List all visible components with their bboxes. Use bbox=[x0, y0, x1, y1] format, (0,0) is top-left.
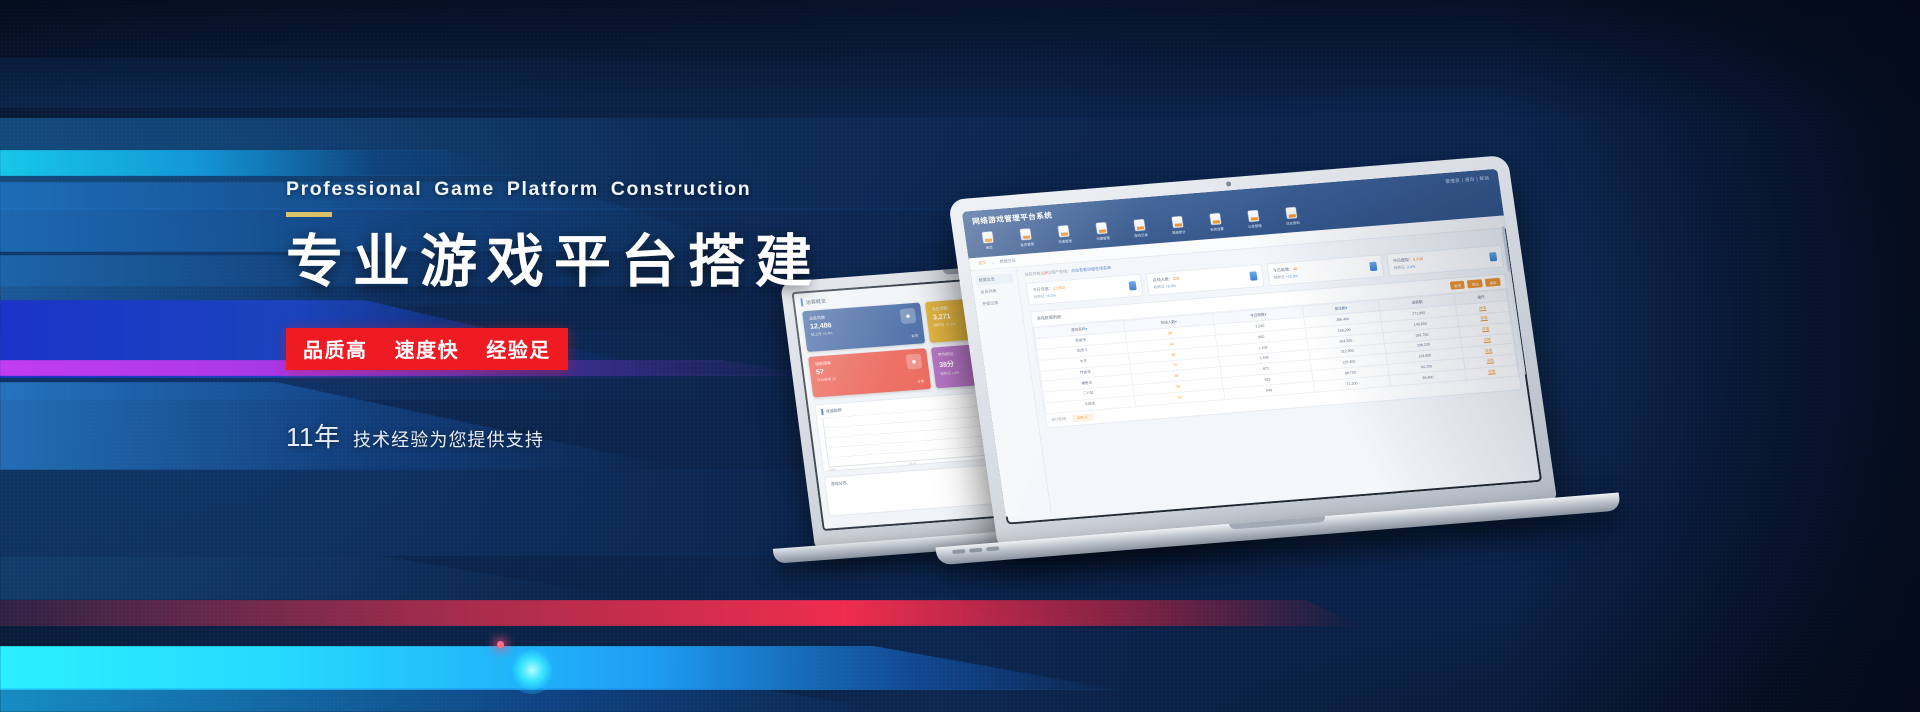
badge-part-3: 经验足 bbox=[486, 340, 551, 362]
eyebrow-text: Professional Game Platform Construction bbox=[286, 178, 1046, 201]
faint-streak bbox=[0, 556, 640, 600]
headline-block: Professional Game Platform Construction … bbox=[286, 178, 1046, 454]
light-sheet bbox=[0, 58, 900, 108]
trend-icon bbox=[1369, 262, 1377, 271]
toolbar-label: 系统设置 bbox=[1210, 226, 1224, 232]
gold-rule bbox=[286, 212, 332, 217]
toolbar-item-reports[interactable]: 报表统计 bbox=[1166, 216, 1191, 236]
top-vignette bbox=[0, 0, 1920, 120]
chart-panel-header: 游戏分布 bbox=[830, 469, 998, 488]
support-text: 技术经验为您提供支持 bbox=[353, 430, 544, 450]
webcam-icon bbox=[1226, 181, 1232, 186]
toolbar-label: 代理管理 bbox=[1096, 235, 1110, 241]
x-tick: 01-01 bbox=[829, 468, 836, 471]
trend-icon bbox=[1489, 252, 1497, 261]
app-body: 数据总览 会员列表 充值记录 当前共有328位用户在线，点击查看详细在线名单 bbox=[970, 228, 1541, 517]
stat-tile[interactable]: 今日提现：9,430 较昨日 -2.4% bbox=[1386, 245, 1504, 277]
stat-tile-value: 12,860 bbox=[1052, 285, 1065, 291]
badge-part-1: 品质高 bbox=[303, 340, 368, 362]
stat-tile-title: 在线人数：328 bbox=[1152, 276, 1180, 284]
megaphone-icon bbox=[1248, 210, 1260, 222]
cyan-streak-bottom-2 bbox=[0, 688, 900, 712]
toolbar-label: 充值管理 bbox=[1058, 238, 1072, 244]
toolbar-label: 公告管理 bbox=[1248, 223, 1262, 229]
toolbar-item-notices[interactable]: 公告管理 bbox=[1242, 210, 1267, 230]
toolbar-item-recharge[interactable]: 充值管理 bbox=[1052, 225, 1077, 245]
support-line: 11年 技术经验为您提供支持 bbox=[286, 417, 1046, 454]
main-content: 当前共有328位用户在线，点击查看详细在线名单 今日充值：12,860 较昨日 … bbox=[1016, 228, 1541, 513]
stat-tile-sub: 较昨日 +12.0% bbox=[1274, 274, 1299, 281]
chart-panel-small: 游戏分布 bbox=[824, 463, 1008, 516]
records-icon bbox=[1134, 219, 1146, 231]
query-button[interactable]: 查询 bbox=[1449, 281, 1465, 290]
toolbar-label: 报表统计 bbox=[1172, 229, 1186, 235]
toolbar-item-records[interactable]: 游戏记录 bbox=[1128, 219, 1153, 239]
hint-link[interactable]: 点击查看详细在线名单 bbox=[1071, 265, 1112, 273]
trend-icon bbox=[1129, 281, 1137, 290]
front-laptop-screen: 网络游戏管理平台系统 管理员 | 退出 | 帮助 首页 会员管理 bbox=[962, 169, 1542, 525]
toolbar-item-agents[interactable]: 代理管理 bbox=[1090, 222, 1115, 242]
cyan-streak-top bbox=[0, 150, 520, 176]
stat-tile[interactable]: 今日新增：46 较昨日 +12.0% bbox=[1266, 254, 1384, 286]
gear-icon bbox=[1210, 213, 1222, 225]
stat-tile-title: 今日提现：9,430 bbox=[1393, 256, 1424, 264]
refresh-button[interactable]: 刷新 bbox=[1485, 278, 1501, 287]
stat-tile-value: 46 bbox=[1292, 266, 1297, 271]
hint-mid: 位用户在线， bbox=[1047, 268, 1072, 275]
agent-icon bbox=[1096, 222, 1108, 234]
chart-icon bbox=[1172, 216, 1184, 228]
years-count: 11年 bbox=[286, 422, 341, 452]
promo-banner: Professional Game Platform Construction … bbox=[0, 0, 1920, 712]
toolbar-label: 日志查询 bbox=[1286, 220, 1300, 226]
glow-orb bbox=[508, 646, 556, 694]
status-badge: 品质高 速度快 经验足 bbox=[286, 328, 568, 370]
table-footer-value: 328 人 bbox=[1072, 413, 1094, 422]
badge-part-2: 速度快 bbox=[395, 340, 460, 362]
stat-tile-title: 今日新增：46 bbox=[1273, 266, 1298, 274]
stat-tile-sub: 较昨日 +3.5% bbox=[1154, 283, 1181, 290]
stat-tile-value: 9,430 bbox=[1413, 256, 1424, 262]
stat-tile-value: 328 bbox=[1172, 276, 1179, 281]
trend-icon bbox=[1249, 271, 1257, 280]
export-button[interactable]: 导出 bbox=[1467, 279, 1483, 288]
red-spark-dot bbox=[497, 641, 504, 648]
toolbar-item-settings[interactable]: 系统设置 bbox=[1204, 213, 1229, 233]
toolbar-label: 游戏记录 bbox=[1134, 232, 1148, 238]
wallet-icon bbox=[1058, 225, 1070, 237]
x-tick: 01-15 bbox=[909, 462, 916, 465]
stat-tile[interactable]: 在线人数：328 较昨日 +3.5% bbox=[1146, 264, 1264, 296]
table-footer-label: 合计在线： bbox=[1051, 416, 1070, 422]
table-actions: 查询 导出 刷新 bbox=[1449, 278, 1500, 290]
chart-title: 游戏分布 bbox=[830, 480, 847, 486]
page-title: 专业游戏平台搭建 bbox=[286, 232, 1046, 294]
toolbar-item-logs[interactable]: 日志查询 bbox=[1280, 207, 1305, 227]
stat-tile-sub: 较昨日 -2.4% bbox=[1394, 264, 1425, 271]
log-icon bbox=[1286, 207, 1298, 219]
